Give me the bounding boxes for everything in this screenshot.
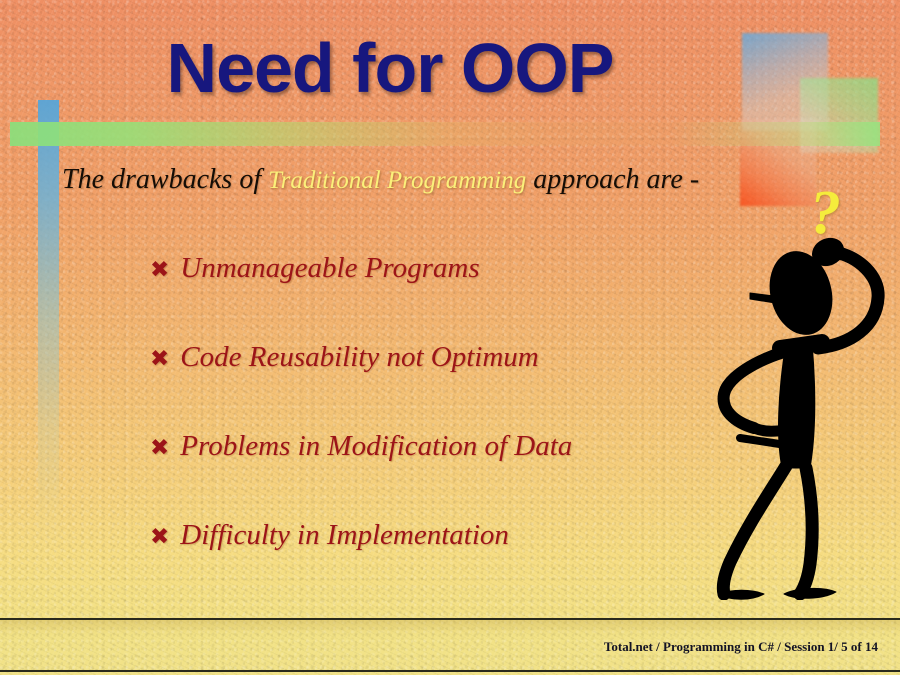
- list-item: ✖ Unmanageable Programs: [150, 252, 710, 341]
- list-item-label: Code Reusability not Optimum: [180, 341, 538, 374]
- subtitle-highlight: Traditional Programming: [268, 167, 526, 194]
- presentation-slide: Need for OOP The drawbacks of Traditiona…: [0, 0, 900, 675]
- list-item: ✖ Difficulty in Implementation: [150, 519, 710, 608]
- figure-hand-on-hip: [754, 428, 784, 431]
- subtitle-text-after: approach are -: [526, 164, 699, 195]
- list-item-label: Unmanageable Programs: [180, 252, 479, 285]
- list-item-label: Difficulty in Implementation: [180, 519, 509, 552]
- cross-mark-icon: ✖: [150, 348, 169, 371]
- cross-mark-icon: ✖: [150, 526, 169, 549]
- list-item: ✖ Code Reusability not Optimum: [150, 341, 710, 430]
- slide-title: Need for OOP: [0, 28, 780, 108]
- figure-torso: [779, 343, 815, 468]
- slide-subtitle: The drawbacks of Traditional Programming…: [62, 160, 752, 200]
- figure-back-leg: [723, 466, 786, 594]
- footer-divider-bottom: [0, 670, 900, 672]
- footer-text: Total.net / Programming in C# / Session …: [604, 639, 878, 655]
- figure-front-foot: [784, 588, 836, 598]
- list-item-label: Problems in Modification of Data: [180, 430, 572, 463]
- subtitle-text-before: The drawbacks of: [62, 164, 268, 195]
- horizontal-accent-bar: [10, 122, 880, 146]
- cross-mark-icon: ✖: [150, 437, 169, 460]
- confused-stick-figure-illustration: [700, 180, 900, 600]
- list-item: ✖ Problems in Modification of Data: [150, 430, 710, 519]
- figure-hip-arm: [724, 352, 784, 428]
- bullet-list: ✖ Unmanageable Programs ✖ Code Reusabili…: [150, 252, 710, 608]
- figure-front-leg: [800, 468, 812, 594]
- cross-mark-icon: ✖: [150, 259, 169, 282]
- vertical-accent-bar: [38, 100, 59, 555]
